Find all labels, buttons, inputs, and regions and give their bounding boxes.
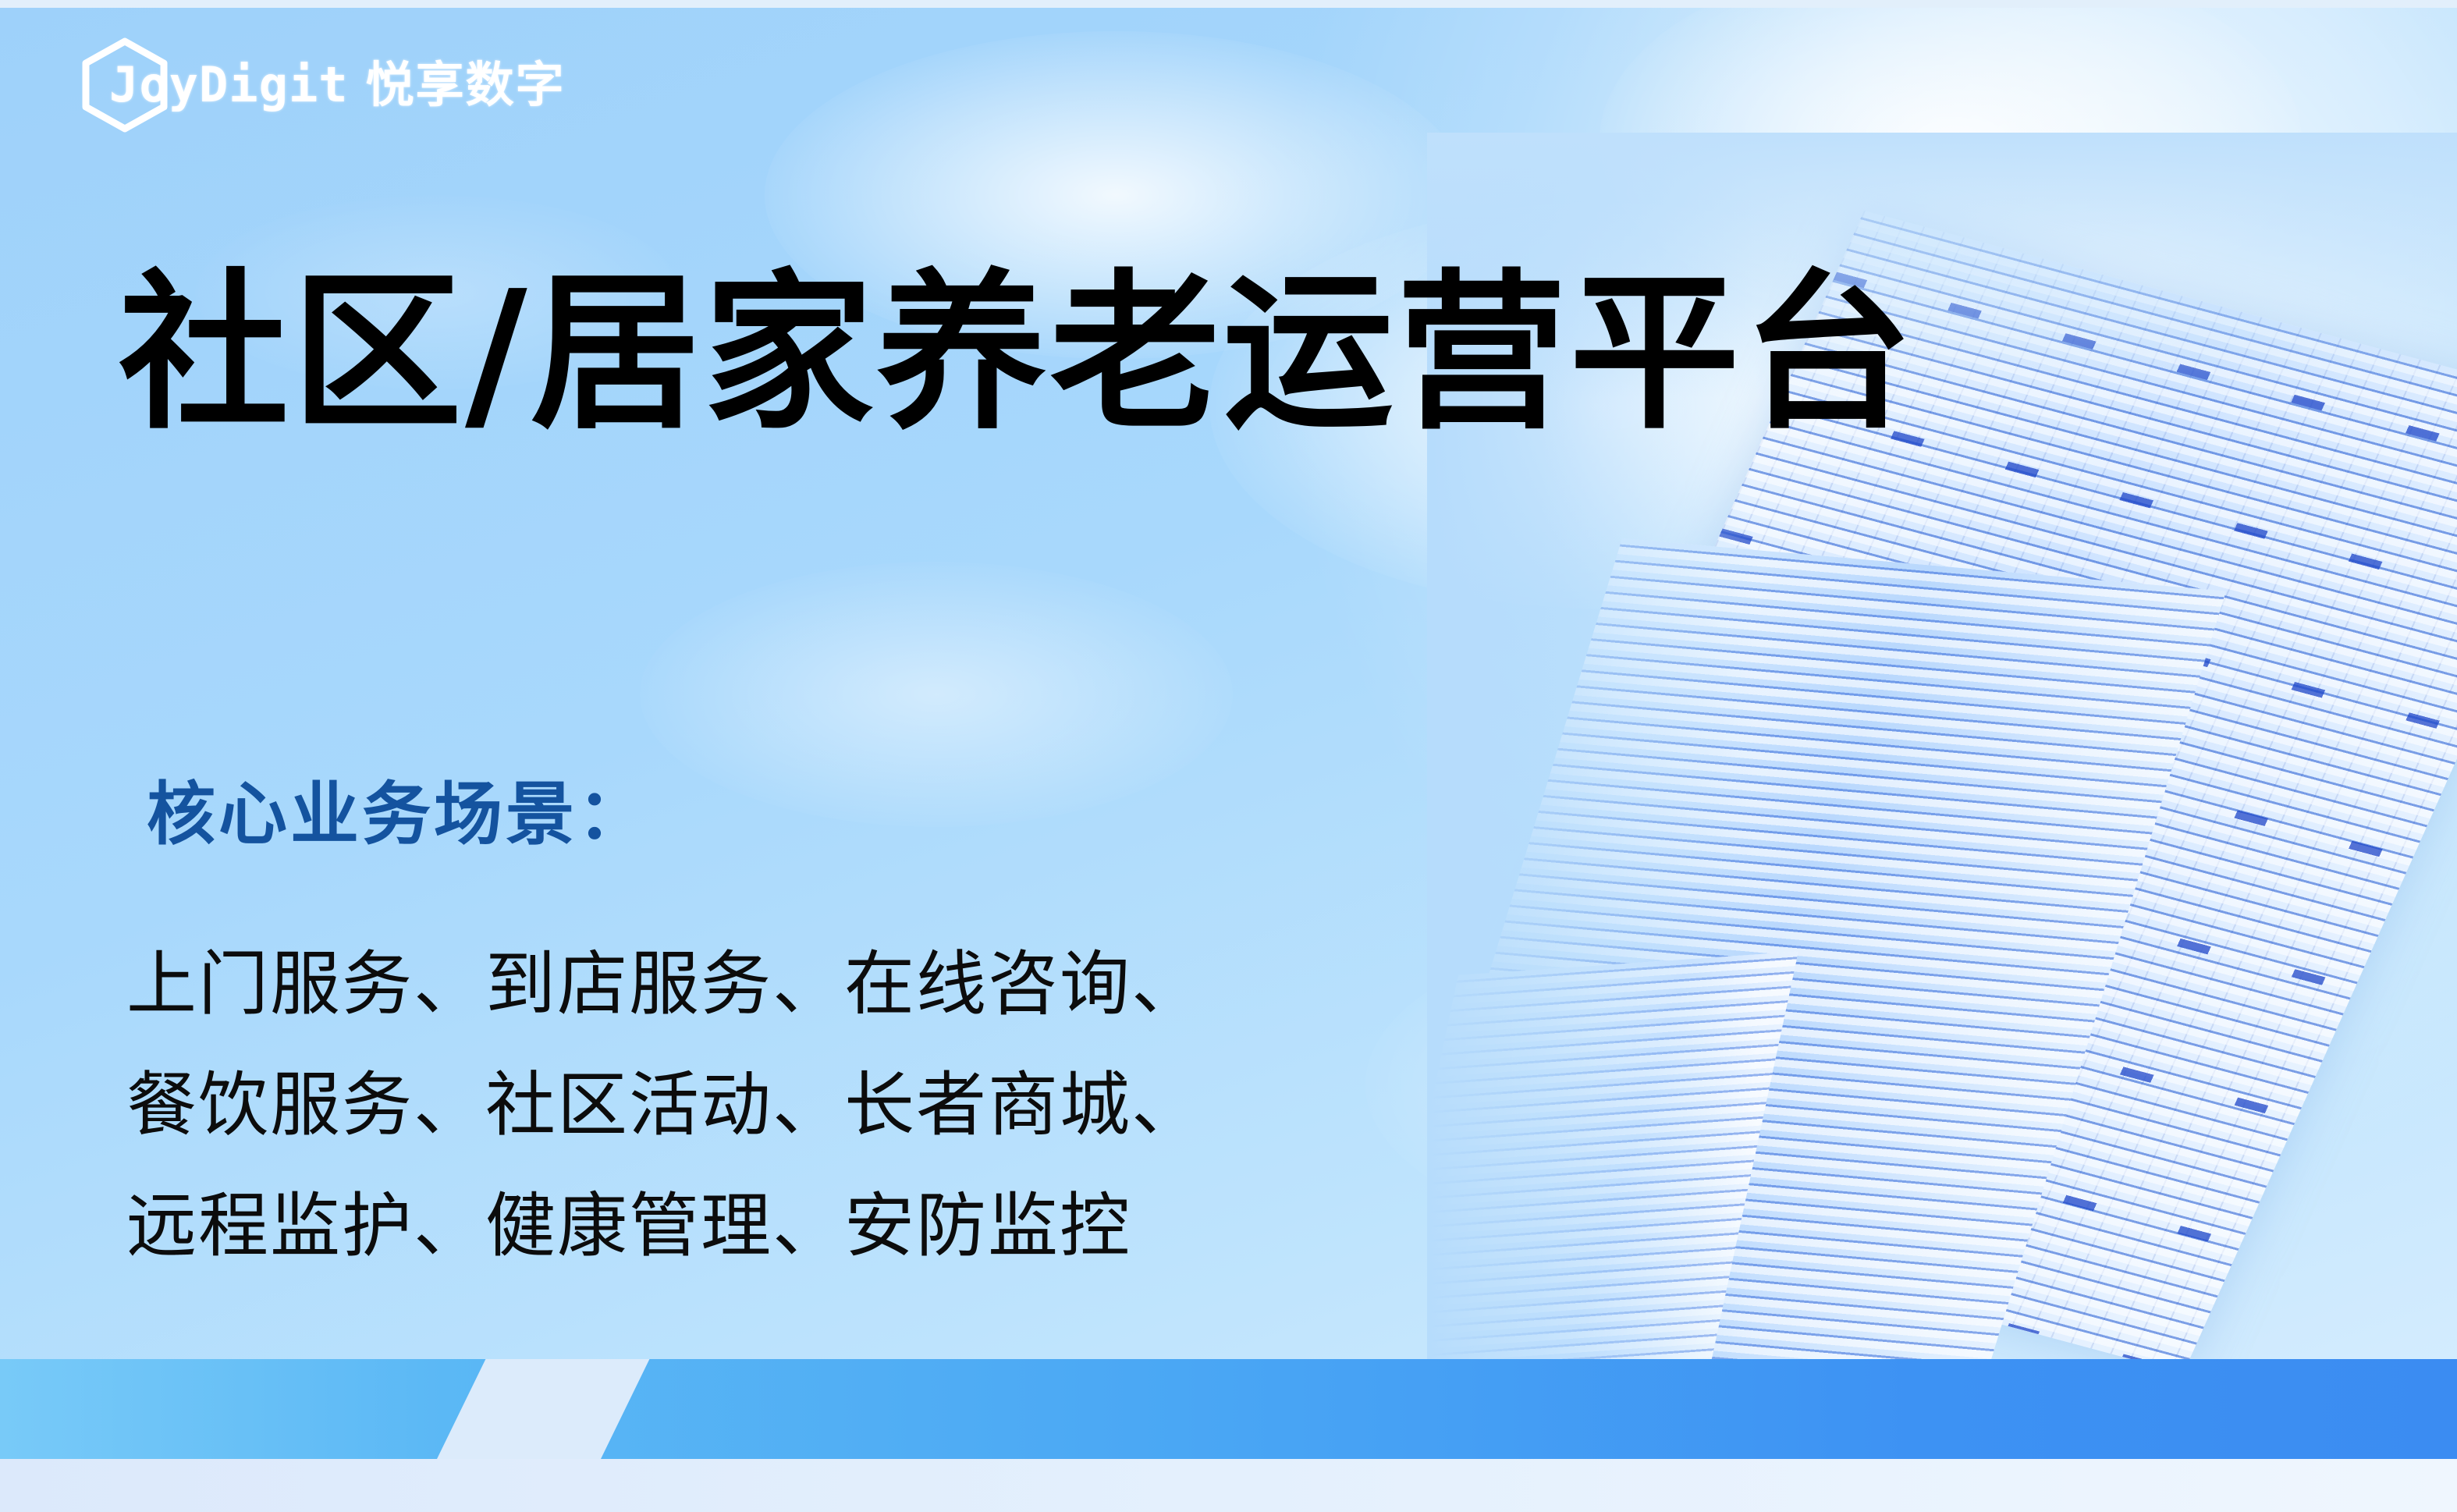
scenario-list: 上门服务、到店服务、在线咨询、 餐饮服务、社区活动、长者商城、 远程监护、健康管… (126, 925, 1203, 1287)
top-edge-strip (0, 0, 2457, 8)
section-label: 核心业务场景： (147, 780, 649, 849)
scenario-line: 上门服务、到店服务、在线咨询、 (126, 925, 1203, 1045)
brand-name-cn: 悦享数字 (366, 61, 566, 109)
brand-logo-text: JoyDigit 悦享数字 (109, 61, 566, 109)
scenario-line: 远程监护、健康管理、安防监控 (126, 1166, 1203, 1287)
slide-canvas: JoyDigit 悦享数字 社区/居家养老运营平台 核心业务场景： 上门服务、到… (0, 0, 2457, 1512)
brand-name-en: JoyDigit (109, 61, 349, 109)
page-title: 社区/居家养老运营平台 (119, 269, 1916, 439)
brand-logo: JoyDigit 悦享数字 (76, 34, 566, 136)
scenario-line: 餐饮服务、社区活动、长者商城、 (126, 1045, 1203, 1166)
bottom-accent-band (0, 1359, 2457, 1459)
footer-strip (0, 1459, 2457, 1512)
